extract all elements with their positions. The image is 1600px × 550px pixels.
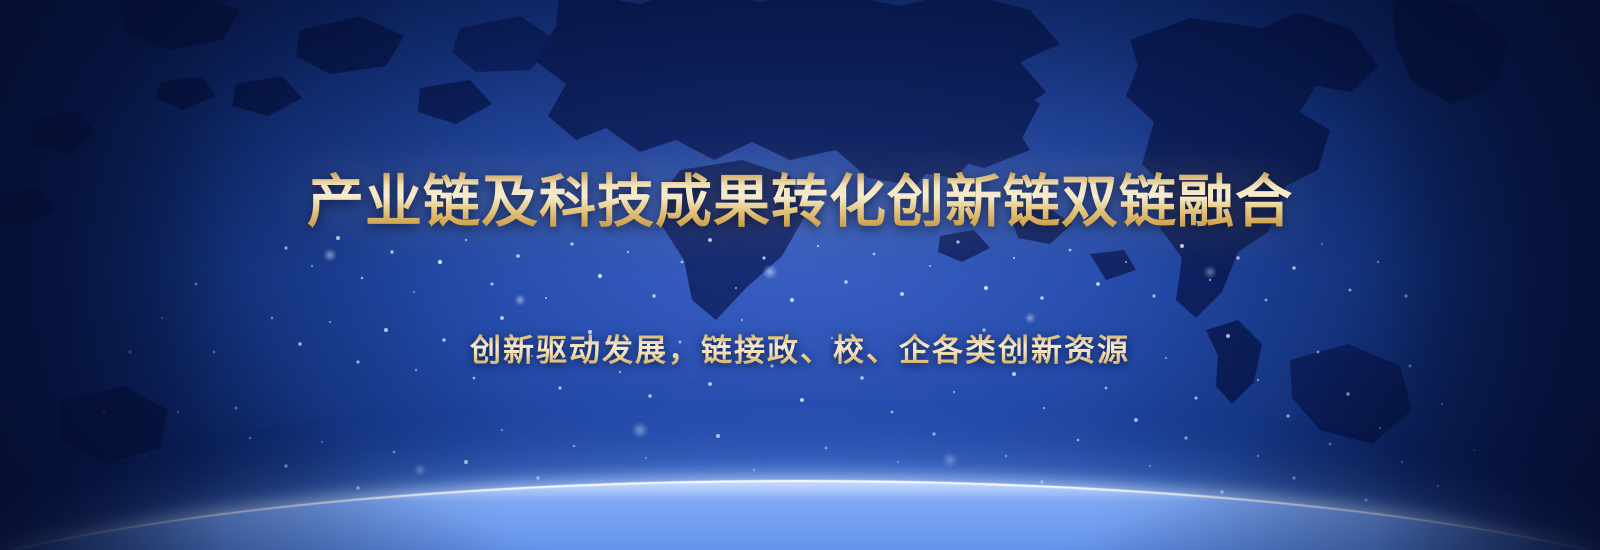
banner-title: 产业链及科技成果转化创新链双链融合 [0, 168, 1600, 236]
promo-banner: 产业链及科技成果转化创新链双链融合 创新驱动发展，链接政、校、企各类创新资源 [0, 0, 1600, 550]
banner-subtitle: 创新驱动发展，链接政、校、企各类创新资源 [0, 330, 1600, 372]
vignette-overlay [0, 0, 1600, 550]
